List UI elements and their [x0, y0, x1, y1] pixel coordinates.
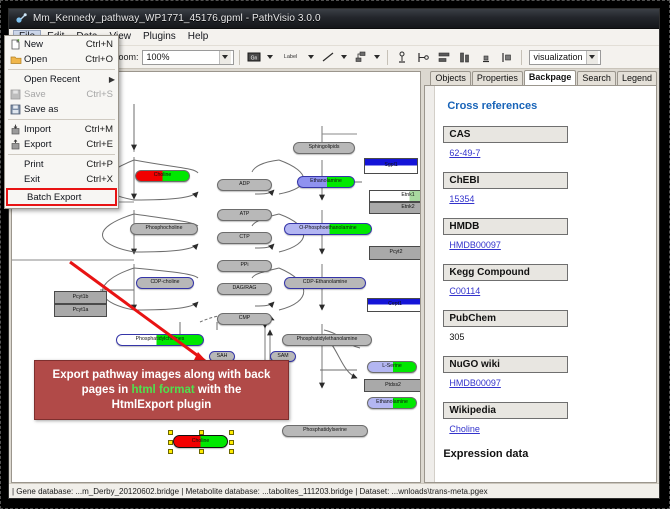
file-menu-item-label: Save as: [24, 104, 113, 115]
file-menu-item-accelerator: Ctrl+M: [85, 124, 116, 135]
align-left-icon[interactable]: [414, 48, 432, 66]
import-icon: [7, 123, 24, 136]
zoom-combobox[interactable]: 100%: [142, 50, 234, 65]
menu-item-no-icon: [7, 158, 24, 171]
file-menu-separator: [8, 119, 115, 120]
resize-handle[interactable]: [229, 430, 234, 435]
file-menu-item-label: Open Recent: [24, 74, 108, 85]
zoom-value: 100%: [147, 52, 170, 62]
annotation-line-3: HtmlExport plugin: [112, 399, 212, 411]
interaction-dropdown-icon[interactable]: [373, 49, 382, 65]
tab-objects[interactable]: Objects: [430, 71, 471, 85]
xref-database-label: Wikipedia: [443, 402, 568, 419]
xref-block: WikipediaCholine: [443, 402, 644, 437]
tab-search[interactable]: Search: [577, 71, 616, 85]
xref-block: NuGO wikiHMDB00097: [443, 356, 644, 391]
toolbar-divider-3: [521, 50, 522, 65]
file-menu-item-exit[interactable]: ExitCtrl+X: [5, 172, 118, 187]
chevron-down-icon[interactable]: [219, 51, 231, 64]
xref-database-label: ChEBI: [443, 172, 568, 189]
file-menu-item-print[interactable]: PrintCtrl+P: [5, 157, 118, 172]
resize-handle[interactable]: [168, 430, 173, 435]
file-menu-item-label: New: [24, 39, 86, 50]
selection-handles[interactable]: [170, 432, 231, 451]
resize-handle[interactable]: [168, 449, 173, 454]
xref-block: HMDBHMDB00097: [443, 218, 644, 253]
resize-handle[interactable]: [229, 440, 234, 445]
resize-handle[interactable]: [199, 449, 204, 454]
xref-block: Kegg CompoundC00114: [443, 264, 644, 299]
file-menu-item-export[interactable]: ExportCtrl+E: [5, 137, 118, 152]
status-text: | Gene database: ...m_Derby_20120602.bri…: [12, 487, 488, 496]
file-menu-item-batch-export[interactable]: Batch Export: [6, 188, 117, 206]
window-titlebar: Mm_Kennedy_pathway_WP1771_45176.gpml - P…: [9, 9, 659, 29]
align-center-vertical-icon[interactable]: [456, 48, 474, 66]
file-menu-separator: [8, 154, 115, 155]
expression-data-title: Expression data: [443, 448, 644, 460]
xref-database-label: PubChem: [443, 310, 568, 327]
align-center-horizontal-icon[interactable]: [435, 48, 453, 66]
menu-help[interactable]: Help: [182, 30, 215, 45]
file-menu-item-accelerator: Ctrl+S: [86, 89, 116, 100]
file-menu-item-open-recent[interactable]: Open Recent▶: [5, 72, 118, 87]
backpage-content: Cross references CAS62-49-7ChEBI15354HMD…: [435, 86, 656, 482]
xref-block: ChEBI15354: [443, 172, 644, 207]
screenshot-root: Mm_Kennedy_pathway_WP1771_45176.gpml - P…: [0, 0, 670, 509]
xref-link[interactable]: C00114: [449, 286, 480, 296]
file-menu-item-label: Save: [24, 89, 86, 100]
line-tool-icon[interactable]: [319, 48, 337, 66]
pathvisio-app-icon: [15, 12, 28, 25]
toolbar-divider-2: [387, 50, 388, 65]
xref-block: PubChem305: [443, 310, 644, 345]
resize-handle[interactable]: [229, 449, 234, 454]
save-as-disk-icon: [7, 103, 24, 116]
file-menu-item-label: Print: [24, 159, 86, 170]
submenu-arrow-icon: ▶: [108, 75, 116, 84]
align-top-icon[interactable]: [393, 48, 411, 66]
xref-value: 305: [449, 332, 464, 342]
file-menu-item-accelerator: Ctrl+X: [86, 174, 116, 185]
toolbar-divider: [239, 50, 240, 65]
open-folder-icon: [7, 53, 24, 66]
file-menu-item-label: Open: [24, 54, 85, 65]
tab-backpage[interactable]: Backpage: [524, 70, 577, 85]
statusbar: | Gene database: ...m_Derby_20120602.bri…: [9, 483, 659, 498]
visualization-chevron-down-icon[interactable]: [586, 51, 598, 64]
file-menu-popup: NewCtrl+NOpenCtrl+OOpen Recent▶SaveCtrl+…: [4, 35, 119, 209]
align-bottom-icon[interactable]: [477, 48, 495, 66]
file-menu-item-save: SaveCtrl+S: [5, 87, 118, 102]
svg-text:Gn: Gn: [250, 56, 257, 62]
xref-database-label: NuGO wiki: [443, 356, 568, 373]
xref-link[interactable]: 62-49-7: [449, 148, 480, 158]
menu-item-no-icon: [7, 173, 24, 186]
xref-link[interactable]: Choline: [449, 424, 480, 434]
xref-database-label: HMDB: [443, 218, 568, 235]
annotation-line-2-pre: pages in: [82, 384, 132, 396]
file-menu-item-label: Import: [24, 124, 85, 135]
file-menu-item-accelerator: Ctrl+N: [86, 39, 116, 50]
file-menu-item-new[interactable]: NewCtrl+N: [5, 37, 118, 52]
file-menu-item-accelerator: Ctrl+P: [86, 159, 116, 170]
window-title: Mm_Kennedy_pathway_WP1771_45176.gpml - P…: [33, 13, 321, 24]
cross-references-title: Cross references: [447, 100, 644, 112]
datanode-dropdown-icon[interactable]: [266, 49, 275, 65]
xref-link[interactable]: 15354: [449, 194, 474, 204]
file-menu-item-save-as[interactable]: Save as: [5, 102, 118, 117]
xref-database-label: Kegg Compound: [443, 264, 568, 281]
tab-properties[interactable]: Properties: [472, 71, 523, 85]
annotation-line-2-post: with the: [195, 384, 242, 396]
tab-legend[interactable]: Legend: [617, 71, 657, 85]
menu-item-no-icon: [7, 73, 24, 86]
xref-link[interactable]: HMDB00097: [449, 378, 501, 388]
align-right-icon[interactable]: [498, 48, 516, 66]
label-dropdown-icon[interactable]: [307, 49, 316, 65]
file-menu-item-accelerator: Ctrl+O: [85, 54, 116, 65]
menu-item-no-icon: [10, 191, 27, 204]
cross-references-list: CAS62-49-7ChEBI15354HMDBHMDB00097Kegg Co…: [443, 126, 644, 437]
xref-link[interactable]: HMDB00097: [449, 240, 501, 250]
visualization-value: visualization: [534, 52, 583, 62]
interaction-tool-icon[interactable]: [352, 48, 370, 66]
annotation-line-1: Export pathway images along with back: [53, 369, 271, 381]
label-tool-button[interactable]: Label: [278, 48, 304, 66]
xref-database-label: CAS: [443, 126, 568, 143]
export-icon: [7, 138, 24, 151]
datanode-shape-icon[interactable]: Gn: [245, 48, 263, 66]
resize-handle[interactable]: [199, 430, 204, 435]
file-menu-item-open[interactable]: OpenCtrl+O: [5, 52, 118, 67]
annotation-callout: Export pathway images along with back pa…: [34, 360, 289, 420]
annotation-highlight: html format: [131, 384, 194, 396]
annotation-text: Export pathway images along with back pa…: [45, 368, 279, 413]
file-menu-item-import[interactable]: ImportCtrl+M: [5, 122, 118, 137]
file-menu-item-label: Batch Export: [27, 192, 110, 203]
save-disk-icon: [7, 88, 24, 101]
xref-block: CAS62-49-7: [443, 126, 644, 161]
file-menu-item-label: Export: [24, 139, 86, 150]
label-tool-text: Label: [284, 54, 297, 60]
resize-handle[interactable]: [168, 440, 173, 445]
new-document-icon: [7, 38, 24, 51]
backpage-panel: Cross references CAS62-49-7ChEBI15354HMD…: [424, 85, 657, 483]
line-dropdown-icon[interactable]: [340, 49, 349, 65]
sidebar-tabs: Objects Properties Backpage Search Legen…: [424, 71, 657, 85]
file-menu-item-accelerator: Ctrl+E: [86, 139, 116, 150]
sidebar: Objects Properties Backpage Search Legen…: [424, 71, 657, 483]
file-menu-separator: [8, 69, 115, 70]
visualization-combobox[interactable]: visualization: [529, 50, 601, 65]
menu-plugins[interactable]: Plugins: [137, 30, 182, 45]
backpage-scrollbar[interactable]: [425, 86, 435, 482]
file-menu-item-label: Exit: [24, 174, 86, 185]
